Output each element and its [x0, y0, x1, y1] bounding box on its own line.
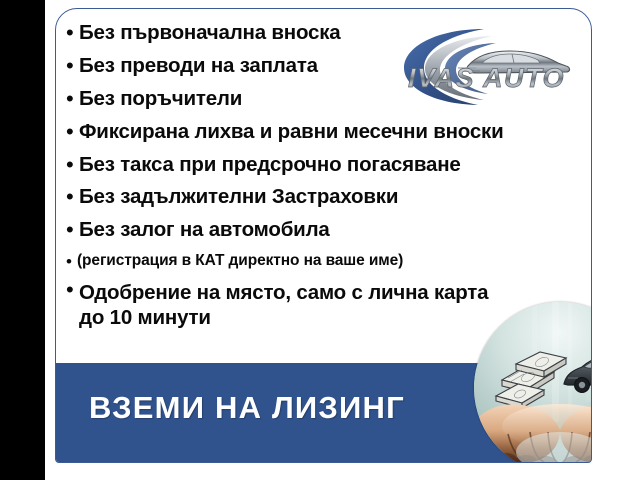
list-item-label: Без залог на автомобила — [79, 220, 586, 241]
bullet-icon: • — [66, 56, 79, 77]
bullet-icon: • — [66, 23, 79, 44]
bullet-icon: • — [66, 155, 79, 176]
list-item-label: (регистрация в КАТ директно на ваше име) — [77, 253, 586, 269]
list-item: • Без такса при предсрочно погасяване — [66, 155, 586, 176]
list-item: • Фиксирана лихва и равни месечни вноски — [66, 122, 586, 143]
list-item-label: Без задължителни Застраховки — [79, 187, 586, 208]
logo-wordmark: IVAS AUTO — [408, 63, 565, 93]
bullet-icon: • — [66, 89, 79, 110]
list-item-label: Фиксирана лихва и равни месечни вноски — [79, 122, 586, 143]
ivas-auto-logo: IVAS AUTO — [388, 25, 573, 107]
advertisement-poster: • Без първоначална вноска • Без преводи … — [0, 0, 640, 480]
list-item: • Без задължителни Застраховки — [66, 187, 586, 208]
bullet-icon: • — [66, 280, 79, 301]
bullet-icon: • — [66, 220, 79, 241]
cta-banner-title: ВЗЕМИ НА ЛИЗИНГ — [89, 390, 405, 426]
list-item-note: • (регистрация в КАТ директно на ваше им… — [66, 253, 586, 270]
list-item-label: Без такса при предсрочно погасяване — [79, 155, 586, 176]
bullet-icon: • — [66, 122, 79, 143]
list-item: • Без залог на автомобила — [66, 220, 586, 241]
poster-card: • Без първоначална вноска • Без преводи … — [55, 8, 592, 463]
bullet-icon: • — [66, 253, 77, 270]
letterbox-bar-left — [0, 0, 45, 480]
bullet-icon: • — [66, 187, 79, 208]
